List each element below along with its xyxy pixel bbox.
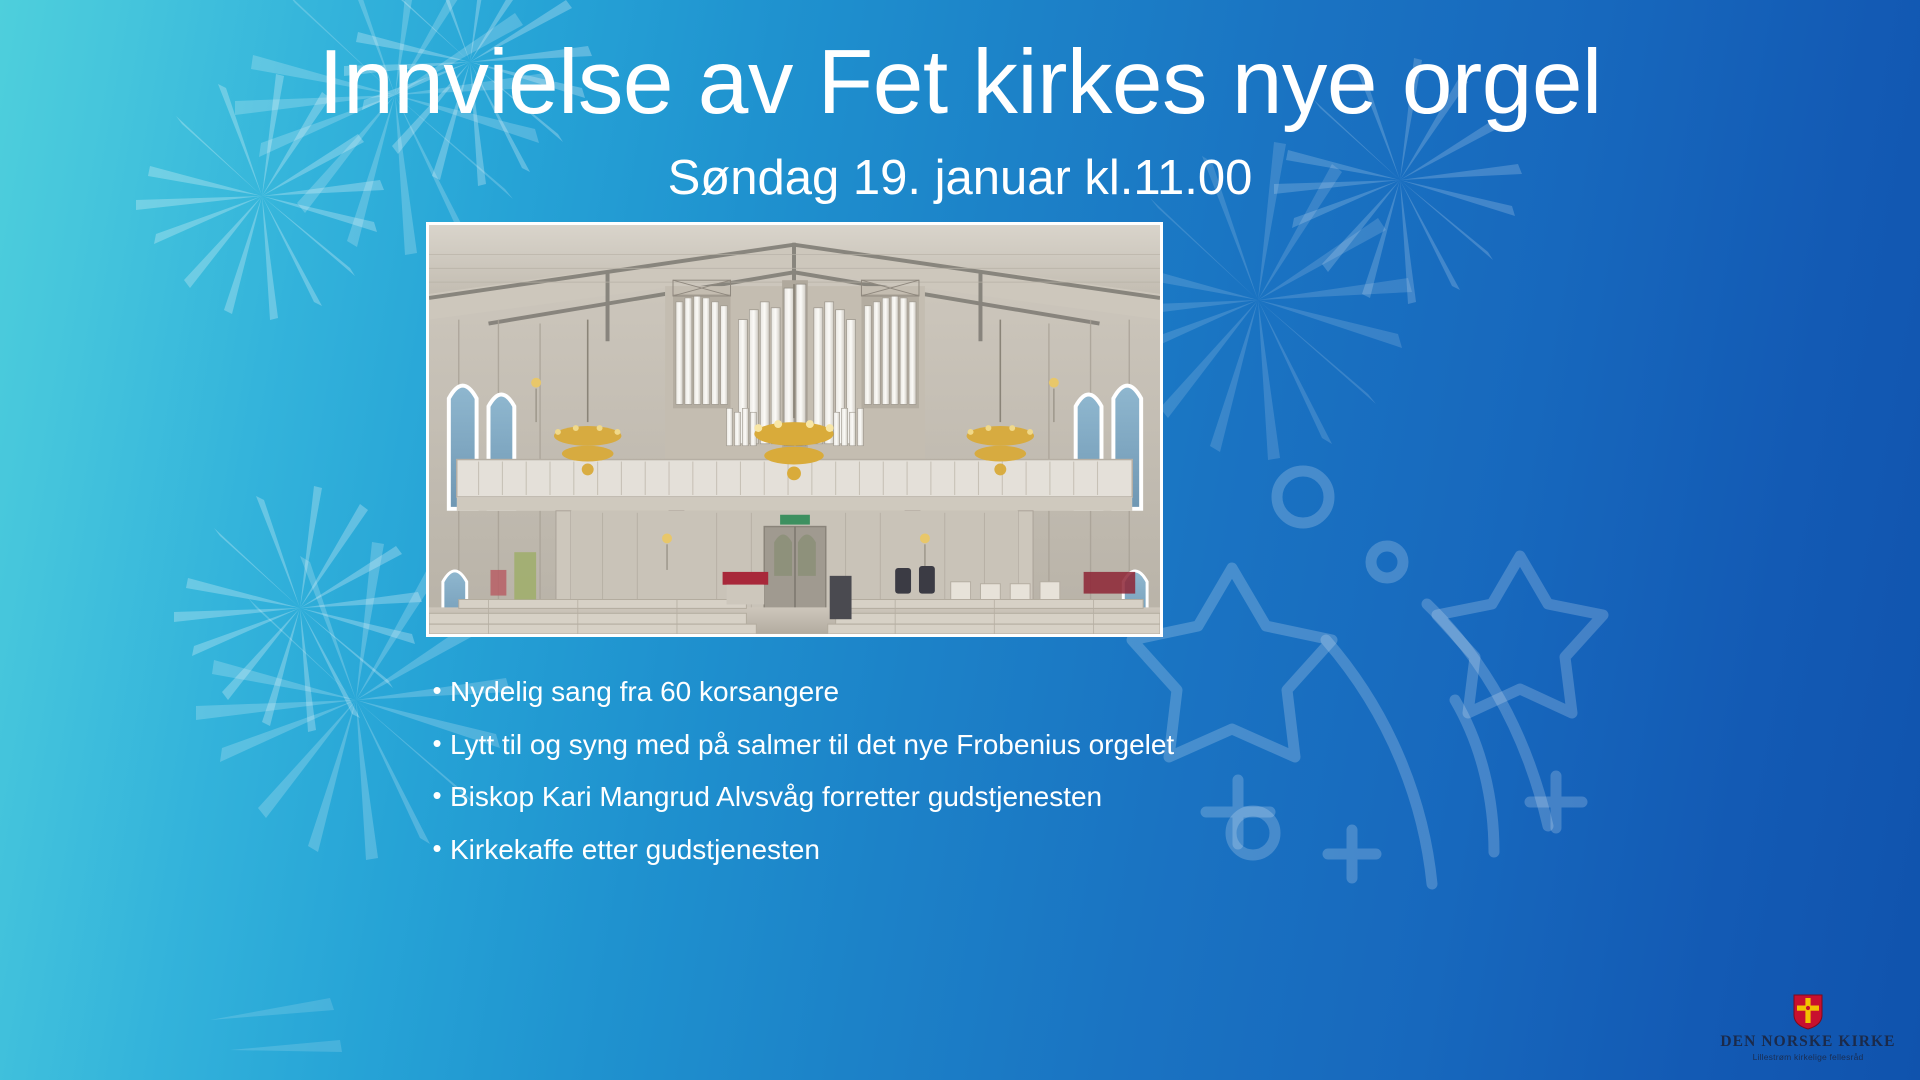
- church-interior-photo: [426, 222, 1163, 637]
- bullet-text: Lytt til og syng med på salmer til det n…: [450, 725, 1424, 766]
- church-logo: DEN NORSKE KIRKE Lillestrøm kirkelige fe…: [1720, 994, 1896, 1062]
- slide-title: Innvielse av Fet kirkes nye orgel: [0, 36, 1920, 131]
- logo-council-name: Lillestrøm kirkelige fellesråd: [1720, 1052, 1896, 1062]
- list-item: • Nydelig sang fra 60 korsangere: [424, 672, 1424, 713]
- list-item: • Biskop Kari Mangrud Alvsvåg forretter …: [424, 777, 1424, 818]
- photo-content: [429, 225, 1160, 634]
- bullet-marker-icon: •: [424, 672, 450, 710]
- title-block: Innvielse av Fet kirkes nye orgel: [0, 36, 1920, 131]
- norwegian-church-crest-icon: [1793, 994, 1823, 1030]
- slide-subtitle: Søndag 19. januar kl.11.00: [0, 152, 1920, 206]
- bullet-list: • Nydelig sang fra 60 korsangere • Lytt …: [424, 672, 1424, 882]
- bullet-text: Kirkekaffe etter gudstjenesten: [450, 830, 1424, 871]
- bullet-text: Nydelig sang fra 60 korsangere: [450, 672, 1424, 713]
- bullet-marker-icon: •: [424, 725, 450, 763]
- logo-organization-name: DEN NORSKE KIRKE: [1720, 1033, 1896, 1050]
- list-item: • Kirkekaffe etter gudstjenesten: [424, 830, 1424, 871]
- presentation-slide: Innvielse av Fet kirkes nye orgel Søndag…: [0, 0, 1920, 1080]
- bullet-marker-icon: •: [424, 830, 450, 868]
- bullet-marker-icon: •: [424, 777, 450, 815]
- list-item: • Lytt til og syng med på salmer til det…: [424, 725, 1424, 766]
- bullet-text: Biskop Kari Mangrud Alvsvåg forretter gu…: [450, 777, 1424, 818]
